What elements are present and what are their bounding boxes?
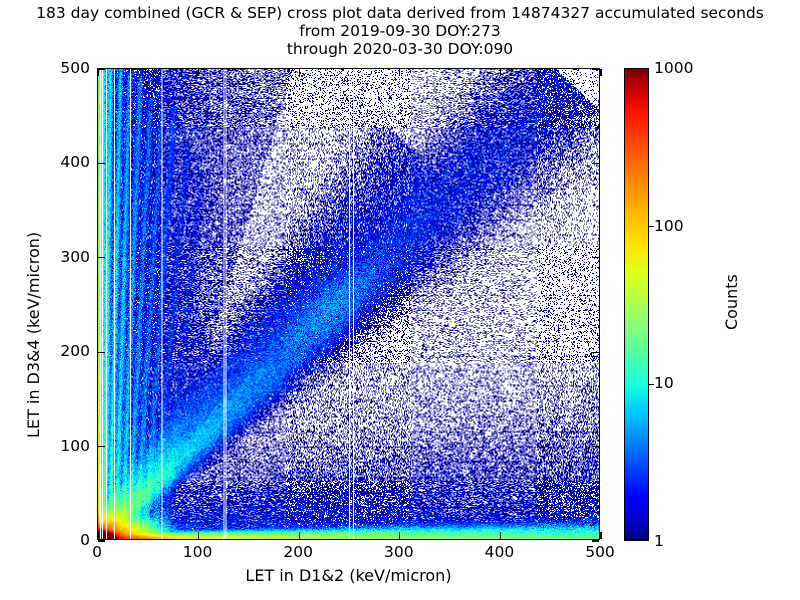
density-heatmap (98, 69, 599, 539)
title-line-3: through 2020-03-30 DOY:090 (0, 40, 800, 58)
x-tick-label: 400 (485, 543, 515, 561)
y-tick-label: 200 (60, 342, 90, 360)
colorbar-gradient (624, 68, 649, 541)
x-tick-label: 100 (183, 543, 213, 561)
y-tick-mark (592, 446, 599, 447)
y-tick-mark (592, 68, 599, 69)
x-axis-label: LET in D1&2 (keV/micron) (97, 566, 600, 585)
x-tick-label: 300 (384, 543, 414, 561)
y-tick-label: 0 (80, 531, 90, 549)
figure-canvas: 183 day combined (GCR & SEP) cross plot … (0, 0, 800, 600)
y-tick-label: 400 (60, 153, 90, 171)
x-tick-mark (500, 69, 501, 76)
y-tick-mark (98, 540, 105, 541)
plot-area (97, 68, 600, 540)
y-tick-mark (592, 163, 599, 164)
figure-title: 183 day combined (GCR & SEP) cross plot … (0, 4, 800, 58)
x-tick-mark (97, 532, 98, 539)
x-tick-mark (399, 532, 400, 539)
y-tick-mark (592, 257, 599, 258)
colorbar-tick-label: 1000 (654, 59, 693, 77)
y-tick-mark (98, 68, 105, 69)
title-line-2: from 2019-09-30 DOY:273 (0, 22, 800, 40)
x-tick-label: 200 (283, 543, 313, 561)
y-tick-label: 300 (60, 248, 90, 266)
x-tick-mark (97, 69, 98, 76)
y-tick-mark (98, 446, 105, 447)
colorbar-tick-label: 100 (654, 217, 684, 235)
y-tick-mark (592, 540, 599, 541)
x-tick-label: 0 (92, 543, 102, 561)
colorbar-tick-label: 10 (654, 374, 674, 392)
x-tick-mark (500, 532, 501, 539)
y-axis-label: LET in D3&4 (keV/micron) (24, 232, 43, 438)
y-tick-mark (98, 352, 105, 353)
x-tick-mark (600, 532, 601, 539)
title-line-1: 183 day combined (GCR & SEP) cross plot … (0, 4, 800, 22)
x-tick-mark (198, 532, 199, 539)
x-tick-mark (399, 69, 400, 76)
x-tick-mark (299, 69, 300, 76)
colorbar-label: Counts (722, 274, 741, 330)
y-tick-label: 100 (60, 437, 90, 455)
colorbar-tick-label: 1 (654, 532, 664, 550)
y-tick-label: 500 (60, 59, 90, 77)
x-tick-label: 500 (585, 543, 615, 561)
x-tick-mark (600, 69, 601, 76)
x-tick-mark (198, 69, 199, 76)
y-tick-mark (592, 352, 599, 353)
x-tick-mark (299, 532, 300, 539)
colorbar (624, 68, 649, 541)
y-tick-mark (98, 257, 105, 258)
y-tick-mark (98, 163, 105, 164)
